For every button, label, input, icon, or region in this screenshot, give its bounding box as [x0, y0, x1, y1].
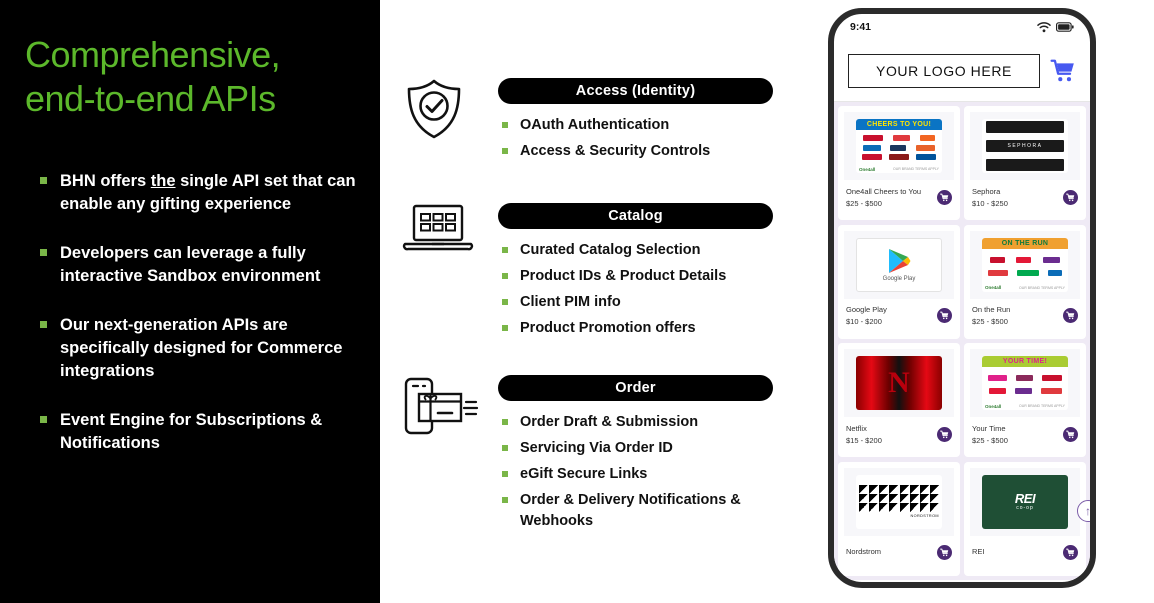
shield-check-icon [402, 78, 480, 148]
brand-chip [988, 270, 1008, 276]
nordstrom-glyph [920, 485, 929, 494]
nordstrom-glyph [910, 485, 919, 494]
card-art: REIco-op [982, 475, 1068, 529]
emphasis-text: the [151, 172, 176, 190]
group-access-items: OAuth AuthenticationAccess & Security Co… [498, 115, 798, 162]
card-art-band: SEPHORA [1008, 143, 1043, 149]
nordstrom-glyph [859, 494, 868, 503]
product-card-footer: REI [970, 536, 1080, 570]
product-price: $15 - $200 [846, 436, 882, 445]
card-art: CHEERS TO YOU!One4allOUR BRAND TERMS APP… [856, 119, 942, 173]
cart-icon[interactable] [1050, 58, 1076, 84]
product-price: $10 - $250 [972, 199, 1008, 208]
nordstrom-glyph [930, 485, 939, 494]
product-card-text: Google Play$10 - $200 [846, 305, 887, 326]
card-art-band: N [888, 368, 910, 398]
product-card-art: ON THE RUNOne4allOUR BRAND TERMS APPLY [970, 231, 1080, 299]
product-name: REI [972, 547, 985, 556]
nordstrom-glyph [879, 503, 888, 512]
card-brand-small: One4all [985, 404, 1001, 409]
app-header: YOUR LOGO HERE [834, 40, 1090, 102]
title-line-1: Comprehensive, [25, 33, 365, 77]
nordstrom-row [859, 494, 939, 503]
product-card[interactable]: YOUR TIME!One4allOUR BRAND TERMS APPLYYo… [964, 343, 1086, 457]
brand-chip [863, 145, 881, 151]
nordstrom-glyph [869, 494, 878, 503]
product-card-text: On the Run$25 - $500 [972, 305, 1010, 326]
brand-chip [889, 154, 909, 160]
phone-giftcard-icon [402, 375, 480, 445]
sephora-bar-mid: SEPHORA [986, 140, 1064, 152]
card-art: SEPHORA [982, 119, 1068, 173]
nordstrom-glyph [879, 485, 888, 494]
group-list-item: Client PIM info [498, 292, 798, 313]
card-art-logo-row [858, 154, 940, 160]
left-bullet-item: Developers can leverage a fully interact… [38, 242, 368, 288]
api-groups-column: Access (Identity) OAuth AuthenticationAc… [380, 0, 810, 603]
card-art: N [856, 356, 942, 410]
group-access-pill[interactable]: Access (Identity) [498, 78, 773, 104]
product-card[interactable]: CHEERS TO YOU!One4allOUR BRAND TERMS APP… [838, 106, 960, 220]
brand-chip [1043, 257, 1060, 263]
add-to-cart-button[interactable] [937, 190, 952, 205]
brand-chip [1042, 375, 1062, 381]
status-icons [1037, 22, 1074, 33]
nordstrom-glyph [910, 503, 919, 512]
brand-chip [916, 154, 936, 160]
phone-status-bar: 9:41 [834, 14, 1090, 40]
product-card-footer: Your Time$25 - $500 [970, 417, 1080, 451]
left-bullet-list: BHN offers the single API set that can e… [38, 170, 368, 481]
group-list-item: Product Promotion offers [498, 318, 798, 339]
card-disclaimer: OUR BRAND TERMS APPLY [1019, 404, 1065, 408]
nordstrom-glyph [900, 494, 909, 503]
left-black-panel: Comprehensive, end-to-end APIs BHN offer… [0, 0, 380, 603]
page-title: Comprehensive, end-to-end APIs [25, 33, 365, 121]
product-card-art: YOUR TIME!One4allOUR BRAND TERMS APPLY [970, 349, 1080, 417]
product-name: Netflix [846, 424, 882, 433]
group-list-item: Access & Security Controls [498, 141, 798, 162]
nordstrom-glyph [889, 494, 898, 503]
product-card-text: Nordstrom [846, 547, 881, 559]
group-order-pill[interactable]: Order [498, 375, 773, 401]
card-art-logo-row [984, 257, 1066, 263]
card-art-logo-row [858, 145, 940, 151]
brand-chip [920, 135, 935, 141]
group-list-item: eGift Secure Links [498, 464, 798, 485]
nordstrom-glyph [869, 503, 878, 512]
left-bullet-item: BHN offers the single API set that can e… [38, 170, 368, 216]
card-art-logo-row [858, 135, 940, 141]
card-art-band: REI [1015, 492, 1035, 505]
brand-chip [1017, 270, 1039, 276]
product-card[interactable]: SEPHORASephora$10 - $250 [964, 106, 1086, 220]
product-card-text: Your Time$25 - $500 [972, 424, 1008, 445]
nordstrom-glyph [900, 503, 909, 512]
status-time: 9:41 [850, 21, 871, 33]
group-list-item: Curated Catalog Selection [498, 240, 798, 261]
product-card-footer: Google Play$10 - $200 [844, 299, 954, 333]
nordstrom-glyph [920, 503, 929, 512]
card-brand-small: One4all [985, 285, 1001, 290]
nordstrom-glyph [910, 494, 919, 503]
product-card-text: REI [972, 547, 985, 559]
phone-mockup: 9:41 YOUR LOGO HERE [828, 8, 1096, 588]
nordstrom-glyph [859, 503, 868, 512]
card-art-footer: One4allOUR BRAND TERMS APPLY [982, 402, 1068, 410]
nordstrom-glyph [859, 485, 868, 494]
product-card-text: One4all Cheers to You$25 - $500 [846, 187, 921, 208]
product-card-art: Google Play [844, 231, 954, 299]
product-price: $10 - $200 [846, 317, 887, 326]
product-card-footer: Sephora$10 - $250 [970, 180, 1080, 214]
brand-chip [989, 388, 1006, 394]
card-brand-small: co-op [1016, 505, 1034, 511]
product-card[interactable]: NORDSTROMNordstrom [838, 462, 960, 576]
nordstrom-glyph [889, 503, 898, 512]
product-card-footer: One4all Cheers to You$25 - $500 [844, 180, 954, 214]
product-name: Nordstrom [846, 547, 881, 556]
brand-chip [988, 375, 1007, 381]
product-name: Google Play [846, 305, 887, 314]
card-art-band: NORDSTROM [859, 514, 939, 518]
nordstrom-glyph [930, 494, 939, 503]
brand-chip [1016, 375, 1033, 381]
nordstrom-glyph [879, 494, 888, 503]
product-price: $25 - $500 [846, 199, 921, 208]
card-art-logo-row [984, 388, 1066, 394]
card-art-footer: One4allOUR BRAND TERMS APPLY [982, 284, 1068, 292]
group-access-body: Access (Identity) OAuth AuthenticationAc… [498, 78, 798, 167]
card-art-band: Google Play [883, 276, 916, 282]
brand-chip [862, 154, 882, 160]
card-art: ON THE RUNOne4allOUR BRAND TERMS APPLY [982, 238, 1068, 292]
card-disclaimer: OUR BRAND TERMS APPLY [893, 167, 939, 171]
brand-chip [1041, 388, 1062, 394]
add-to-cart-button[interactable] [1063, 190, 1078, 205]
add-to-cart-button[interactable] [937, 545, 952, 560]
add-to-cart-button[interactable] [1063, 427, 1078, 442]
group-list-item: Servicing Via Order ID [498, 438, 798, 459]
laptop-grid-icon [402, 203, 480, 273]
brand-chip [863, 135, 883, 141]
product-card-footer: Netflix$15 - $200 [844, 417, 954, 451]
nordstrom-glyph [930, 503, 939, 512]
group-list-item: Product IDs & Product Details [498, 266, 798, 287]
left-bullet-item: Our next-generation APIs are specificall… [38, 314, 368, 383]
nordstrom-row [859, 503, 939, 512]
nordstrom-row [859, 485, 939, 494]
card-art-logos [982, 367, 1068, 402]
group-order-body: Order Order Draft & SubmissionServicing … [498, 375, 798, 537]
add-to-cart-button[interactable] [1063, 545, 1078, 560]
product-name: On the Run [972, 305, 1010, 314]
card-art-band: CHEERS TO YOU! [856, 119, 942, 130]
card-art: Google Play [856, 238, 942, 292]
sephora-bar-bottom [986, 159, 1064, 171]
add-to-cart-button[interactable] [1063, 308, 1078, 323]
product-card-art: REIco-op [970, 468, 1080, 536]
group-catalog-pill[interactable]: Catalog [498, 203, 773, 229]
product-card-art: N [844, 349, 954, 417]
add-to-cart-button[interactable] [937, 427, 952, 442]
group-list-item: Order Draft & Submission [498, 412, 798, 433]
add-to-cart-button[interactable] [937, 308, 952, 323]
product-name: One4all Cheers to You [846, 187, 921, 196]
nordstrom-glyph [920, 494, 929, 503]
product-name: Sephora [972, 187, 1008, 196]
product-card[interactable]: ON THE RUNOne4allOUR BRAND TERMS APPLYOn… [964, 225, 1086, 339]
product-card-art: NORDSTROM [844, 468, 954, 536]
left-bullet-item: Event Engine for Subscriptions & Notific… [38, 409, 368, 455]
title-line-2: end-to-end APIs [25, 77, 365, 121]
sephora-bar-top [986, 121, 1064, 133]
card-art-footer: One4allOUR BRAND TERMS APPLY [856, 165, 942, 173]
product-card[interactable]: Google PlayGoogle Play$10 - $200 [838, 225, 960, 339]
group-list-item: Order & Delivery Notifications & Webhook… [498, 490, 798, 532]
card-art-logo-row [984, 375, 1066, 381]
card-art-band: YOUR TIME! [982, 356, 1068, 367]
nordstrom-glyph [869, 485, 878, 494]
card-disclaimer: OUR BRAND TERMS APPLY [1019, 286, 1065, 290]
brand-chip [1015, 388, 1032, 394]
card-brand-small: One4all [859, 167, 875, 172]
brand-chip [990, 257, 1005, 263]
card-art-band: ON THE RUN [982, 238, 1068, 249]
product-card[interactable]: REIco-opREI [964, 462, 1086, 576]
group-catalog-body: Catalog Curated Catalog SelectionProduct… [498, 203, 798, 344]
product-price: $25 - $500 [972, 436, 1008, 445]
group-list-item: OAuth Authentication [498, 115, 798, 136]
brand-chip [893, 135, 910, 141]
product-card[interactable]: NNetflix$15 - $200 [838, 343, 960, 457]
card-art-logos [982, 249, 1068, 284]
brand-chip [1048, 270, 1062, 276]
product-card-art: CHEERS TO YOU!One4allOUR BRAND TERMS APP… [844, 112, 954, 180]
nordstrom-glyph [900, 485, 909, 494]
slide-canvas: Comprehensive, end-to-end APIs BHN offer… [0, 0, 1154, 603]
product-name: Your Time [972, 424, 1008, 433]
card-art-logos [856, 130, 942, 165]
group-order-items: Order Draft & SubmissionServicing Via Or… [498, 412, 798, 532]
logo-placeholder: YOUR LOGO HERE [848, 54, 1040, 88]
scroll-to-top-button[interactable]: ↑ [1077, 500, 1096, 522]
card-art: YOUR TIME!One4allOUR BRAND TERMS APPLY [982, 356, 1068, 410]
product-card-art: SEPHORA [970, 112, 1080, 180]
wifi-icon [1037, 22, 1051, 33]
group-catalog-items: Curated Catalog SelectionProduct IDs & P… [498, 240, 798, 339]
product-card-text: Netflix$15 - $200 [846, 424, 882, 445]
card-art: NORDSTROM [856, 475, 942, 529]
brand-chip [1016, 257, 1031, 263]
product-price: $25 - $500 [972, 317, 1010, 326]
nordstrom-glyph [889, 485, 898, 494]
product-card-grid[interactable]: CHEERS TO YOU!One4allOUR BRAND TERMS APP… [834, 102, 1090, 580]
brand-chip [890, 145, 906, 151]
battery-icon [1056, 22, 1074, 32]
product-card-text: Sephora$10 - $250 [972, 187, 1008, 208]
brand-chip [916, 145, 935, 151]
product-card-footer: Nordstrom [844, 536, 954, 570]
product-card-footer: On the Run$25 - $500 [970, 299, 1080, 333]
card-art-logo-row [984, 270, 1066, 276]
google-play-icon [887, 248, 911, 274]
